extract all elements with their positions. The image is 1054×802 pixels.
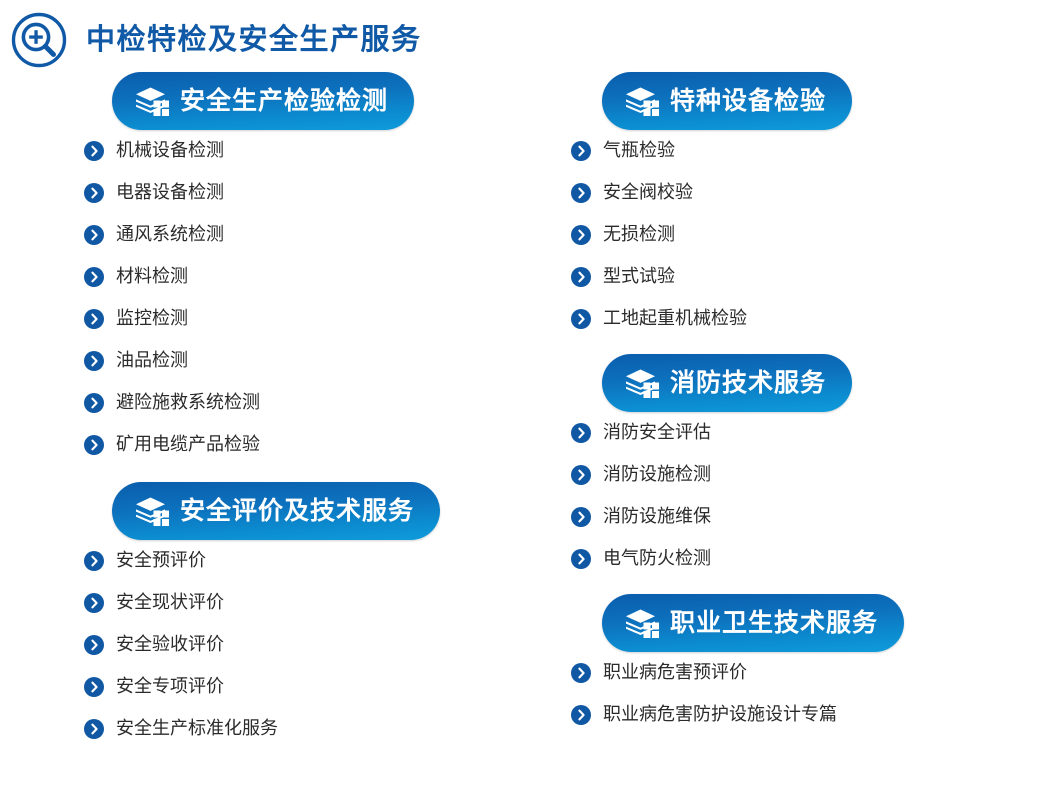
section-badge[interactable]: 安全生产检验检测	[112, 72, 414, 130]
chevron-right-icon	[84, 551, 104, 571]
layers-grid-icon	[624, 86, 660, 116]
section-badge[interactable]: 安全评价及技术服务	[112, 482, 440, 540]
list-item[interactable]: 安全预评价	[84, 540, 527, 582]
chevron-right-icon	[84, 719, 104, 739]
chevron-right-icon	[84, 309, 104, 329]
list-item[interactable]: 电气防火检测	[571, 538, 1054, 580]
list-item-label: 职业病危害预评价	[603, 664, 747, 682]
layers-grid-icon	[624, 368, 660, 398]
service-item-list: 气瓶检验 安全阀校验 无损检测	[527, 130, 1054, 340]
chevron-right-icon	[84, 435, 104, 455]
list-item-label: 气瓶检验	[603, 142, 675, 160]
list-item[interactable]: 矿用电缆产品检验	[84, 424, 527, 466]
list-item[interactable]: 职业病危害预评价	[571, 652, 1054, 694]
list-item[interactable]: 安全生产标准化服务	[84, 708, 527, 750]
section-title: 特种设备检验	[670, 89, 826, 114]
layers-grid-icon	[134, 496, 170, 526]
list-item[interactable]: 消防设施维保	[571, 496, 1054, 538]
page-title: 中检特检及安全生产服务	[86, 26, 422, 55]
chevron-right-icon	[571, 225, 591, 245]
section-title: 职业卫生技术服务	[670, 611, 878, 636]
chevron-right-icon	[571, 183, 591, 203]
section-badge[interactable]: 特种设备检验	[602, 72, 852, 130]
list-item-label: 矿用电缆产品检验	[116, 436, 260, 454]
section-badge[interactable]: 职业卫生技术服务	[602, 594, 904, 652]
list-item[interactable]: 气瓶检验	[571, 130, 1054, 172]
chevron-right-icon	[571, 423, 591, 443]
list-item-label: 安全预评价	[116, 552, 206, 570]
section-occupational-health-service: 职业卫生技术服务 职业病危害预评价 职业病危害防护设施设计专篇	[527, 594, 1054, 736]
section-special-equipment-inspection: 特种设备检验 气瓶检验 安全阀校验	[527, 72, 1054, 340]
list-item[interactable]: 通风系统检测	[84, 214, 527, 256]
list-item[interactable]: 油品检测	[84, 340, 527, 382]
chevron-right-icon	[84, 393, 104, 413]
left-column: 安全生产检验检测 机械设备检测 电器设备检测	[0, 72, 527, 750]
list-item[interactable]: 监控检测	[84, 298, 527, 340]
list-item-label: 安全现状评价	[116, 594, 224, 612]
service-item-list: 消防安全评估 消防设施检测 消防设施维保	[527, 412, 1054, 580]
list-item-label: 职业病危害防护设施设计专篇	[603, 706, 837, 724]
chevron-right-icon	[571, 309, 591, 329]
list-item-label: 无损检测	[603, 226, 675, 244]
list-item-label: 机械设备检测	[116, 142, 224, 160]
list-item[interactable]: 无损检测	[571, 214, 1054, 256]
chevron-right-icon	[571, 267, 591, 287]
service-item-list: 安全预评价 安全现状评价 安全验收评价	[0, 540, 527, 750]
section-safety-production-inspection: 安全生产检验检测 机械设备检测 电器设备检测	[0, 72, 527, 466]
list-item[interactable]: 职业病危害防护设施设计专篇	[571, 694, 1054, 736]
list-item[interactable]: 工地起重机械检验	[571, 298, 1054, 340]
list-item-label: 油品检测	[116, 352, 188, 370]
list-item[interactable]: 避险施救系统检测	[84, 382, 527, 424]
list-item-label: 电器设备检测	[116, 184, 224, 202]
chevron-right-icon	[571, 507, 591, 527]
list-item-label: 安全阀校验	[603, 184, 693, 202]
list-item[interactable]: 型式试验	[571, 256, 1054, 298]
list-item-label: 工地起重机械检验	[603, 310, 747, 328]
chevron-right-icon	[84, 225, 104, 245]
page-header: 中检特检及安全生产服务	[0, 0, 1054, 72]
list-item-label: 安全专项评价	[116, 678, 224, 696]
chevron-right-icon	[84, 267, 104, 287]
list-item-label: 避险施救系统检测	[116, 394, 260, 412]
chevron-right-icon	[84, 141, 104, 161]
section-fire-technical-service: 消防技术服务 消防安全评估 消防设施检测	[527, 354, 1054, 580]
chevron-right-icon	[84, 593, 104, 613]
right-column: 特种设备检验 气瓶检验 安全阀校验	[527, 72, 1054, 750]
list-item-label: 通风系统检测	[116, 226, 224, 244]
list-item[interactable]: 安全阀校验	[571, 172, 1054, 214]
chevron-right-icon	[571, 549, 591, 569]
chevron-right-icon	[571, 663, 591, 683]
chevron-right-icon	[84, 635, 104, 655]
service-item-list: 机械设备检测 电器设备检测 通风系统检测	[0, 130, 527, 466]
section-title: 安全生产检验检测	[180, 89, 388, 114]
list-item[interactable]: 安全专项评价	[84, 666, 527, 708]
chevron-right-icon	[571, 141, 591, 161]
list-item-label: 消防设施检测	[603, 466, 711, 484]
list-item[interactable]: 消防安全评估	[571, 412, 1054, 454]
chevron-right-icon	[84, 677, 104, 697]
list-item-label: 材料检测	[116, 268, 188, 286]
list-item-label: 消防安全评估	[603, 424, 711, 442]
section-safety-evaluation-service: 安全评价及技术服务 安全预评价 安全现状评价	[0, 482, 527, 750]
list-item[interactable]: 机械设备检测	[84, 130, 527, 172]
list-item-label: 电气防火检测	[603, 550, 711, 568]
list-item-label: 安全验收评价	[116, 636, 224, 654]
magnifier-plus-icon	[10, 11, 68, 69]
service-columns: 安全生产检验检测 机械设备检测 电器设备检测	[0, 72, 1054, 750]
list-item[interactable]: 电器设备检测	[84, 172, 527, 214]
list-item[interactable]: 安全现状评价	[84, 582, 527, 624]
service-item-list: 职业病危害预评价 职业病危害防护设施设计专篇	[527, 652, 1054, 736]
list-item[interactable]: 材料检测	[84, 256, 527, 298]
list-item[interactable]: 安全验收评价	[84, 624, 527, 666]
chevron-right-icon	[84, 351, 104, 371]
section-title: 安全评价及技术服务	[180, 499, 414, 524]
list-item-label: 监控检测	[116, 310, 188, 328]
list-item-label: 安全生产标准化服务	[116, 720, 278, 738]
section-title: 消防技术服务	[670, 371, 826, 396]
list-item[interactable]: 消防设施检测	[571, 454, 1054, 496]
layers-grid-icon	[624, 608, 660, 638]
chevron-right-icon	[571, 705, 591, 725]
section-badge[interactable]: 消防技术服务	[602, 354, 852, 412]
chevron-right-icon	[84, 183, 104, 203]
layers-grid-icon	[134, 86, 170, 116]
chevron-right-icon	[571, 465, 591, 485]
list-item-label: 型式试验	[603, 268, 675, 286]
list-item-label: 消防设施维保	[603, 508, 711, 526]
